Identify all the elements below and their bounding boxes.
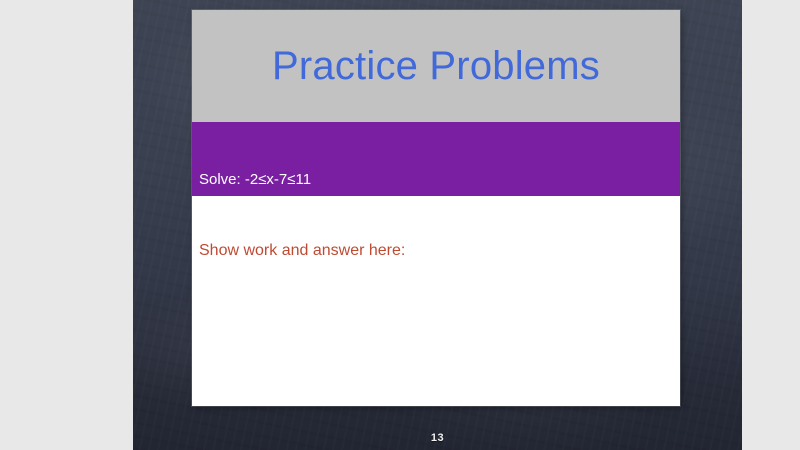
viewer-right-margin	[742, 0, 800, 450]
presentation-slide[interactable]: Practice Problems Solve: -2≤x-7≤11 Show …	[192, 10, 680, 406]
page-title: Practice Problems	[272, 46, 600, 86]
slide-title-band: Practice Problems	[192, 10, 680, 122]
chalkboard-background: Practice Problems Solve: -2≤x-7≤11 Show …	[133, 0, 742, 450]
problem-statement-text: Solve: -2≤x-7≤11	[192, 172, 311, 197]
student-work-area[interactable]: Show work and answer here:	[192, 196, 680, 406]
page-number-label: 13	[133, 432, 742, 444]
viewer-left-margin	[0, 0, 133, 450]
slide-viewer: Practice Problems Solve: -2≤x-7≤11 Show …	[0, 0, 800, 450]
work-prompt-label: Show work and answer here:	[199, 242, 405, 260]
problem-statement-band: Solve: -2≤x-7≤11	[192, 122, 680, 196]
